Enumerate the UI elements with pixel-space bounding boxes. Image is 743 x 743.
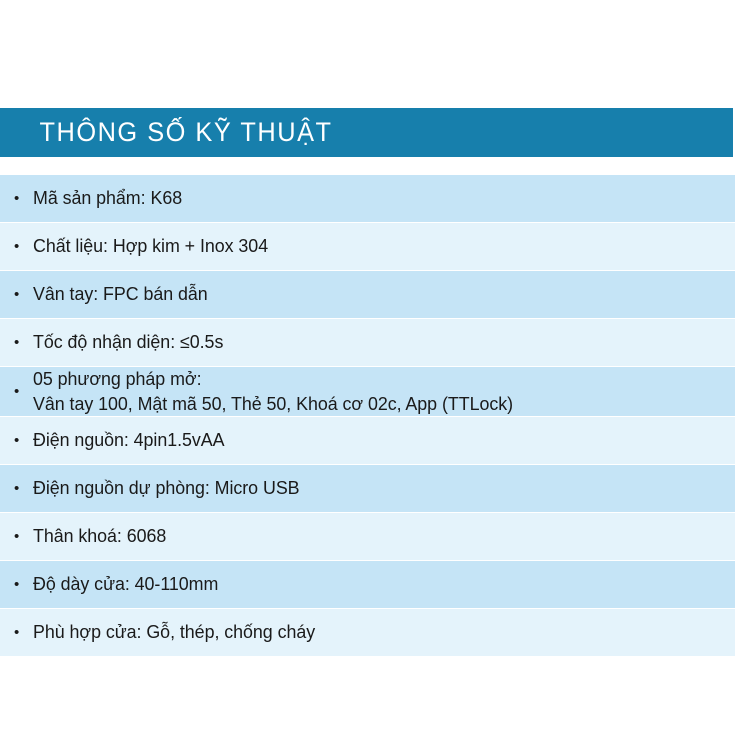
spec-text: Độ dày cửa: 40-110mm [33,572,705,597]
bullet-icon: • [14,481,33,496]
spec-text: Vân tay: FPC bán dẫn [33,282,705,307]
spec-sheet: THÔNG SỐ KỸ THUẬT • Mã sản phẩm: K68 • C… [0,0,743,743]
spec-text: Thân khoá: 6068 [33,524,705,549]
bullet-icon: • [14,577,33,592]
list-item: • Điện nguồn dự phòng: Micro USB [0,465,735,512]
bullet-icon: • [14,384,33,399]
bullet-icon: • [14,529,33,544]
spec-text: Điện nguồn dự phòng: Micro USB [33,476,705,501]
list-item: • Mã sản phẩm: K68 [0,175,735,222]
bullet-icon: • [14,625,33,640]
spec-text: Điện nguồn: 4pin1.5vAA [33,428,705,453]
list-item: • Độ dày cửa: 40-110mm [0,561,735,608]
list-item: • Chất liệu: Hợp kim + Inox 304 [0,223,735,270]
spec-list: • Mã sản phẩm: K68 • Chất liệu: Hợp kim … [0,175,735,657]
spec-header-banner: THÔNG SỐ KỸ THUẬT [0,108,733,157]
bullet-icon: • [14,335,33,350]
spec-text: Mã sản phẩm: K68 [33,186,705,211]
bullet-icon: • [14,239,33,254]
bullet-icon: • [14,433,33,448]
spec-text: Tốc độ nhận diện: ≤0.5s [33,330,705,355]
list-item: • Vân tay: FPC bán dẫn [0,271,735,318]
page-title: THÔNG SỐ KỸ THUẬT [0,119,333,146]
list-item: • 05 phương pháp mở: Vân tay 100, Mật mã… [0,367,735,416]
bullet-icon: • [14,191,33,206]
list-item: • Thân khoá: 6068 [0,513,735,560]
list-item: • Tốc độ nhận diện: ≤0.5s [0,319,735,366]
list-item: • Điện nguồn: 4pin1.5vAA [0,417,735,464]
bullet-icon: • [14,287,33,302]
spec-text: 05 phương pháp mở: Vân tay 100, Mật mã 5… [33,367,705,416]
list-item: • Phù hợp cửa: Gỗ, thép, chống cháy [0,609,735,656]
spec-text: Chất liệu: Hợp kim + Inox 304 [33,234,705,259]
spec-text: Phù hợp cửa: Gỗ, thép, chống cháy [33,620,705,645]
